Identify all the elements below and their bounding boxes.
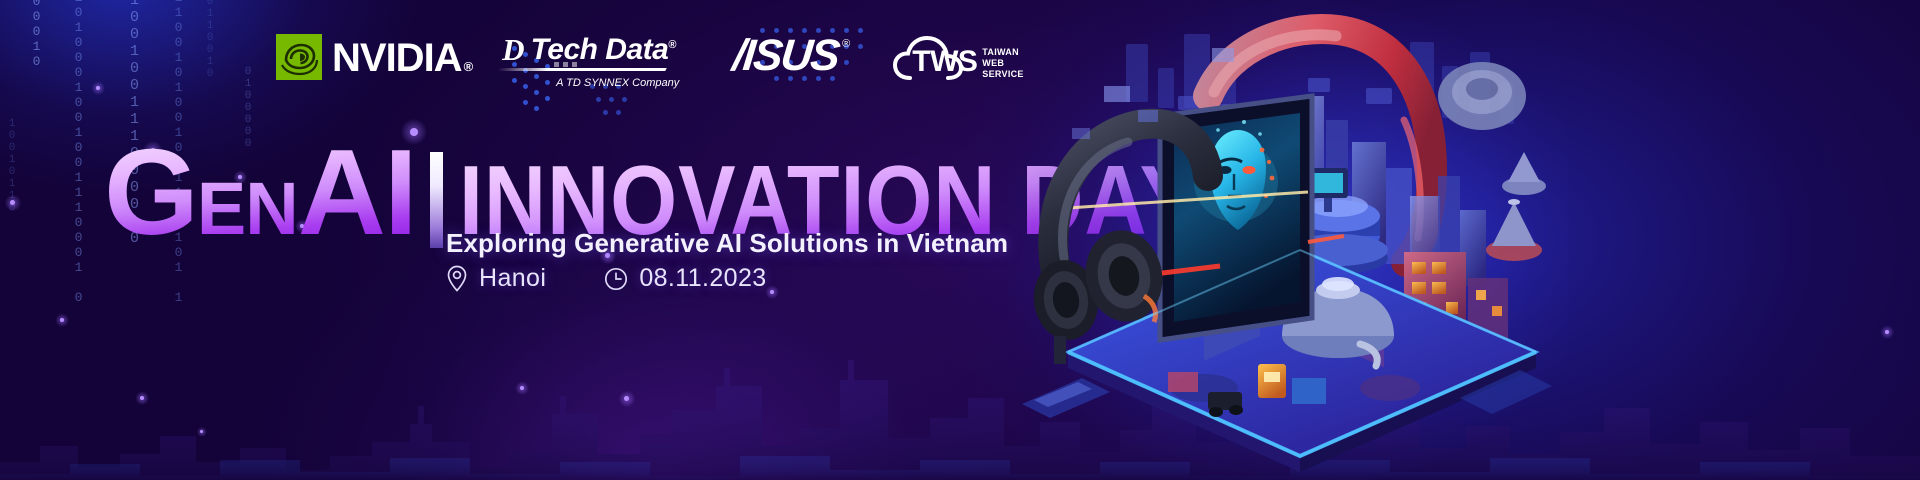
nvidia-trademark: ®: [464, 59, 473, 74]
tech-data-tagline: A TD SYNNEX Company: [556, 77, 679, 89]
tech-data-monogram-icon: D: [502, 34, 524, 65]
clock-icon: [604, 267, 628, 291]
isometric-ai-city-artwork: [1008, 0, 1568, 480]
glow-particle: [10, 200, 15, 205]
binary-column: 00010: [30, 0, 42, 124]
tech-data-underline-rule: [497, 68, 667, 71]
nvidia-wordmark-text: NVIDIA: [332, 36, 462, 80]
tech-data-main: D Tech Data®: [502, 34, 676, 65]
logo-nvidia[interactable]: NVIDIA®: [276, 34, 472, 80]
tech-data-wordmark-text: Tech Data: [531, 33, 669, 66]
glow-particle: [60, 318, 64, 322]
headline-gen-big: G: [104, 124, 197, 260]
nvidia-wordmark: NVIDIA®: [332, 38, 472, 78]
event-subtitle: Exploring Generative AI Solutions in Vie…: [446, 228, 1008, 259]
meta-location-label: Hanoi: [479, 264, 546, 293]
asus-trademark: ®: [842, 38, 850, 50]
meta-date-label: 08.11.2023: [639, 264, 766, 293]
glow-particle: [770, 290, 774, 294]
glow-particle: [96, 86, 100, 90]
event-meta-row: Hanoi 08.11.2023: [446, 264, 767, 293]
binary-column: 0110010: [204, 0, 216, 92]
partner-logo-strip: NVIDIA® D Tech Data® A TD SYNNEX Company…: [276, 34, 1024, 96]
location-pin-icon: [446, 265, 468, 292]
binary-column: 1010001001001110001 0: [72, 0, 84, 210]
logo-tws[interactable]: TWS TAIWAN WEB SERVICE: [892, 34, 1023, 84]
city-skyline-silhouette: [0, 350, 1920, 480]
headline-ai: AI: [298, 124, 416, 260]
headline-gen-small: EN: [197, 167, 298, 250]
headline-genai: GENAI: [104, 140, 416, 245]
nvidia-eye-icon: [276, 34, 322, 80]
asus-wordmark: /ISUS: [731, 34, 841, 78]
logo-tech-data[interactable]: D Tech Data® A TD SYNNEX Company: [502, 34, 679, 89]
tws-wordmark: TWS: [912, 47, 977, 77]
title-divider-bar: [430, 152, 443, 248]
tws-cloud-icon: TWS: [892, 34, 976, 84]
tech-data-wordmark: Tech Data®: [531, 35, 676, 65]
event-banner: 00010 1010001001001110001 0 100100111000…: [0, 0, 1920, 480]
logo-asus[interactable]: /ISUS ®: [733, 34, 850, 78]
tech-data-dots: [554, 62, 577, 67]
meta-date: 08.11.2023: [604, 264, 766, 293]
glow-particle: [1885, 330, 1889, 334]
tech-data-trademark: ®: [668, 39, 676, 51]
meta-location: Hanoi: [446, 264, 546, 293]
binary-column: 10010110: [6, 118, 18, 238]
